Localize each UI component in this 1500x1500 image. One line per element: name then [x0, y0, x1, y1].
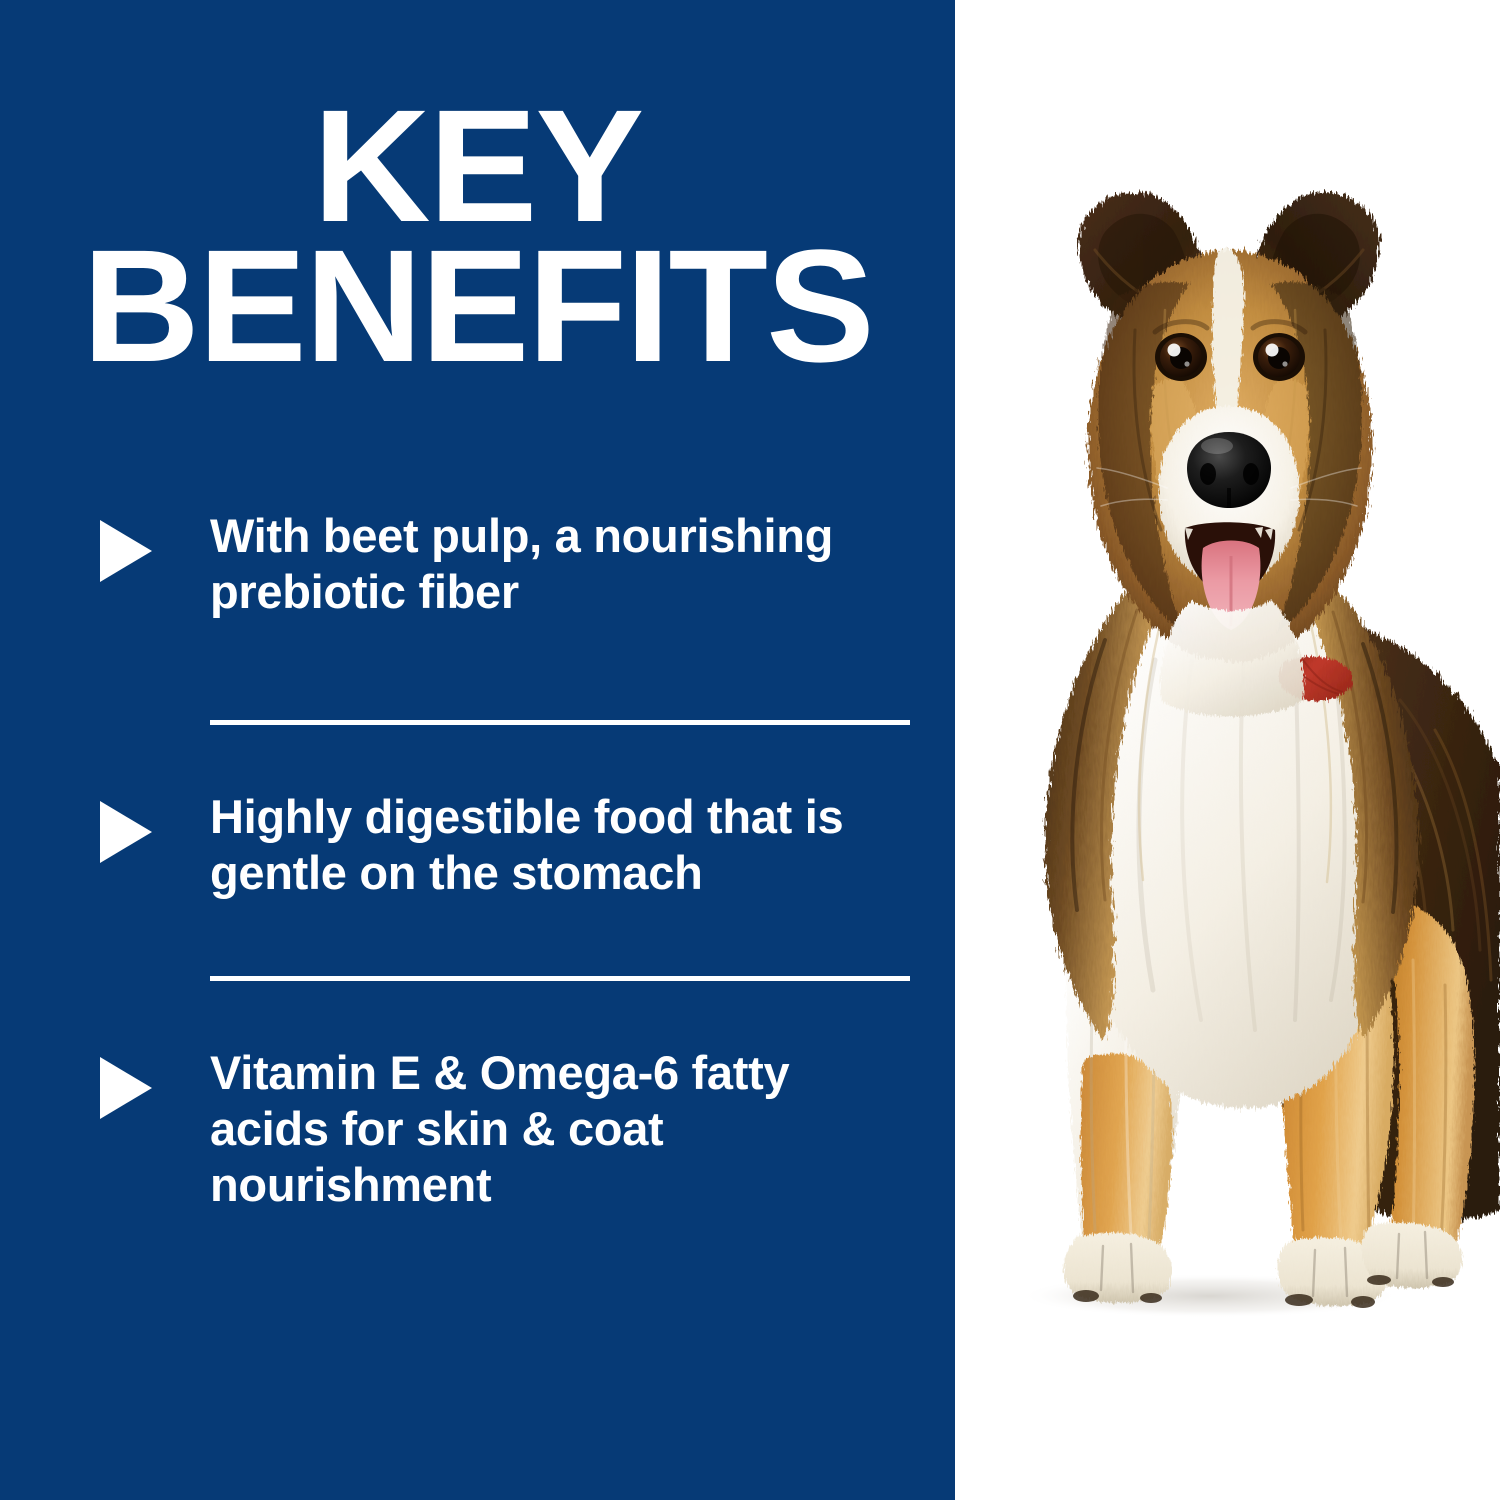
key-benefits-panel-image: KEY BENEFITS With beet pulp, a nourishin… — [0, 0, 1500, 1500]
benefit-text: With beet pulp, a nourishing prebiotic f… — [210, 500, 920, 620]
benefit-text: Vitamin E & Omega-6 fatty acids for skin… — [210, 1037, 920, 1213]
triangle-right-icon — [100, 801, 152, 863]
benefit-item: With beet pulp, a nourishing prebiotic f… — [100, 500, 920, 620]
dog-photo — [955, 0, 1500, 1500]
benefits-panel: KEY BENEFITS With beet pulp, a nourishin… — [0, 0, 955, 1500]
triangle-right-icon — [100, 1057, 152, 1119]
benefit-text: Highly digestible food that is gentle on… — [210, 781, 920, 901]
benefit-item: Highly digestible food that is gentle on… — [100, 781, 920, 901]
benefit-item: Vitamin E & Omega-6 fatty acids for skin… — [100, 1037, 920, 1213]
page-title: KEY BENEFITS — [0, 96, 965, 376]
benefits-list: With beet pulp, a nourishing prebiotic f… — [100, 500, 920, 1213]
triangle-right-icon — [100, 520, 152, 582]
